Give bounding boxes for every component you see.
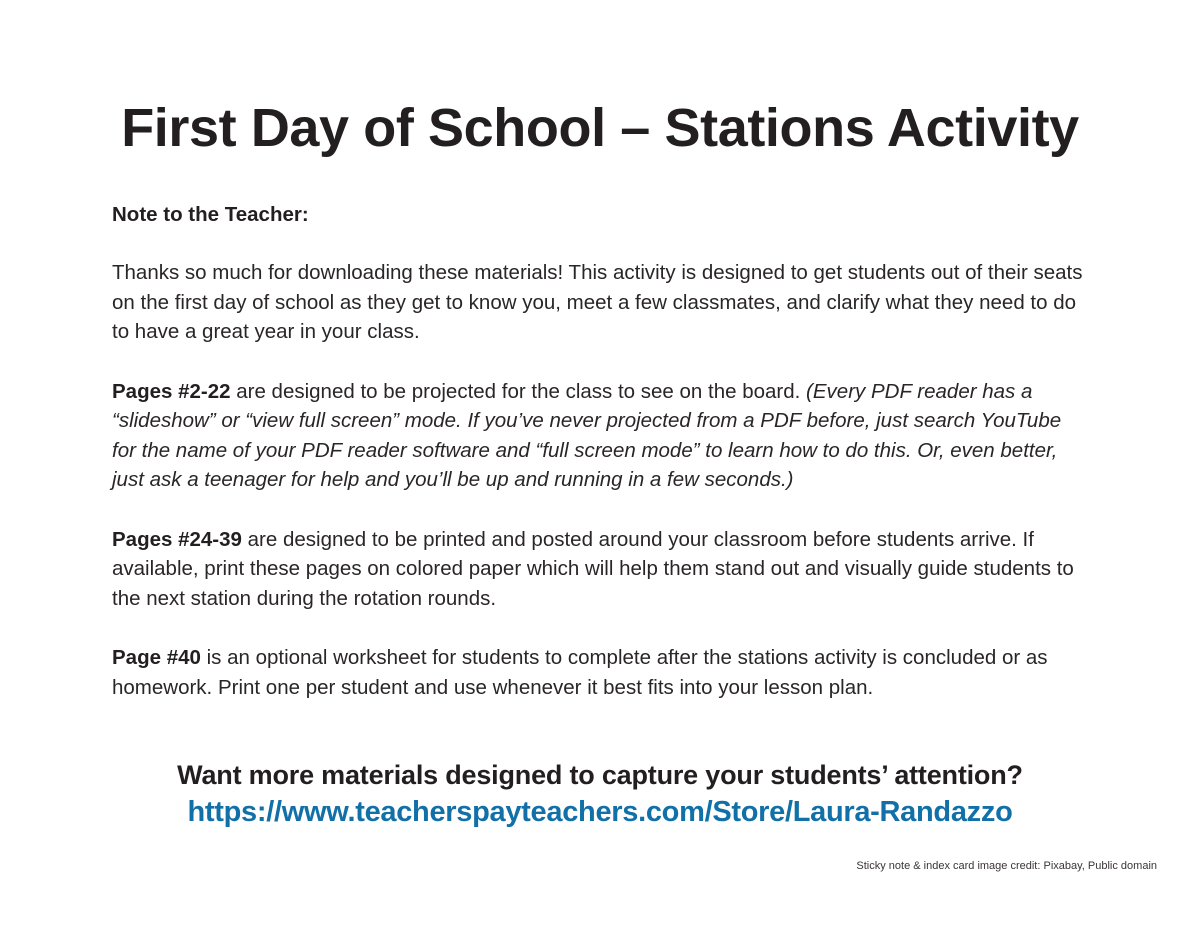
pages-2-22-label: Pages #2-22 [112,380,231,403]
paragraph-run-regular: are designed to be printed and posted ar… [112,528,1074,610]
paragraph-run-regular: Thanks so much for downloading these mat… [112,261,1082,343]
pages-2-22-paragraph: Pages #2-22 are designed to be projected… [112,347,1088,495]
page-40-paragraph: Page #40 is an optional worksheet for st… [112,613,1088,702]
store-link[interactable]: https://www.teacherspayteachers.com/Stor… [112,792,1088,830]
pages-24-39-label: Pages #24-39 [112,528,242,551]
cta-headline: Want more materials designed to capture … [112,758,1088,792]
document-page: First Day of School – Stations Activity … [0,0,1200,927]
document-content: First Day of School – Stations Activity … [112,0,1088,830]
pages-24-39-paragraph: Pages #24-39 are designed to be printed … [112,495,1088,614]
thanks-paragraph: Thanks so much for downloading these mat… [112,229,1088,347]
image-credit-note: Sticky note & index card image credit: P… [856,859,1157,874]
paragraph-run-regular: are designed to be projected for the cla… [231,380,807,403]
note-to-teacher-heading: Note to the Teacher: [112,159,1088,229]
page-40-label: Page #40 [112,646,201,669]
page-title: First Day of School – Stations Activity [112,0,1088,159]
paragraph-run-regular: is an optional worksheet for students to… [112,646,1048,699]
call-to-action-block: Want more materials designed to capture … [112,702,1088,830]
